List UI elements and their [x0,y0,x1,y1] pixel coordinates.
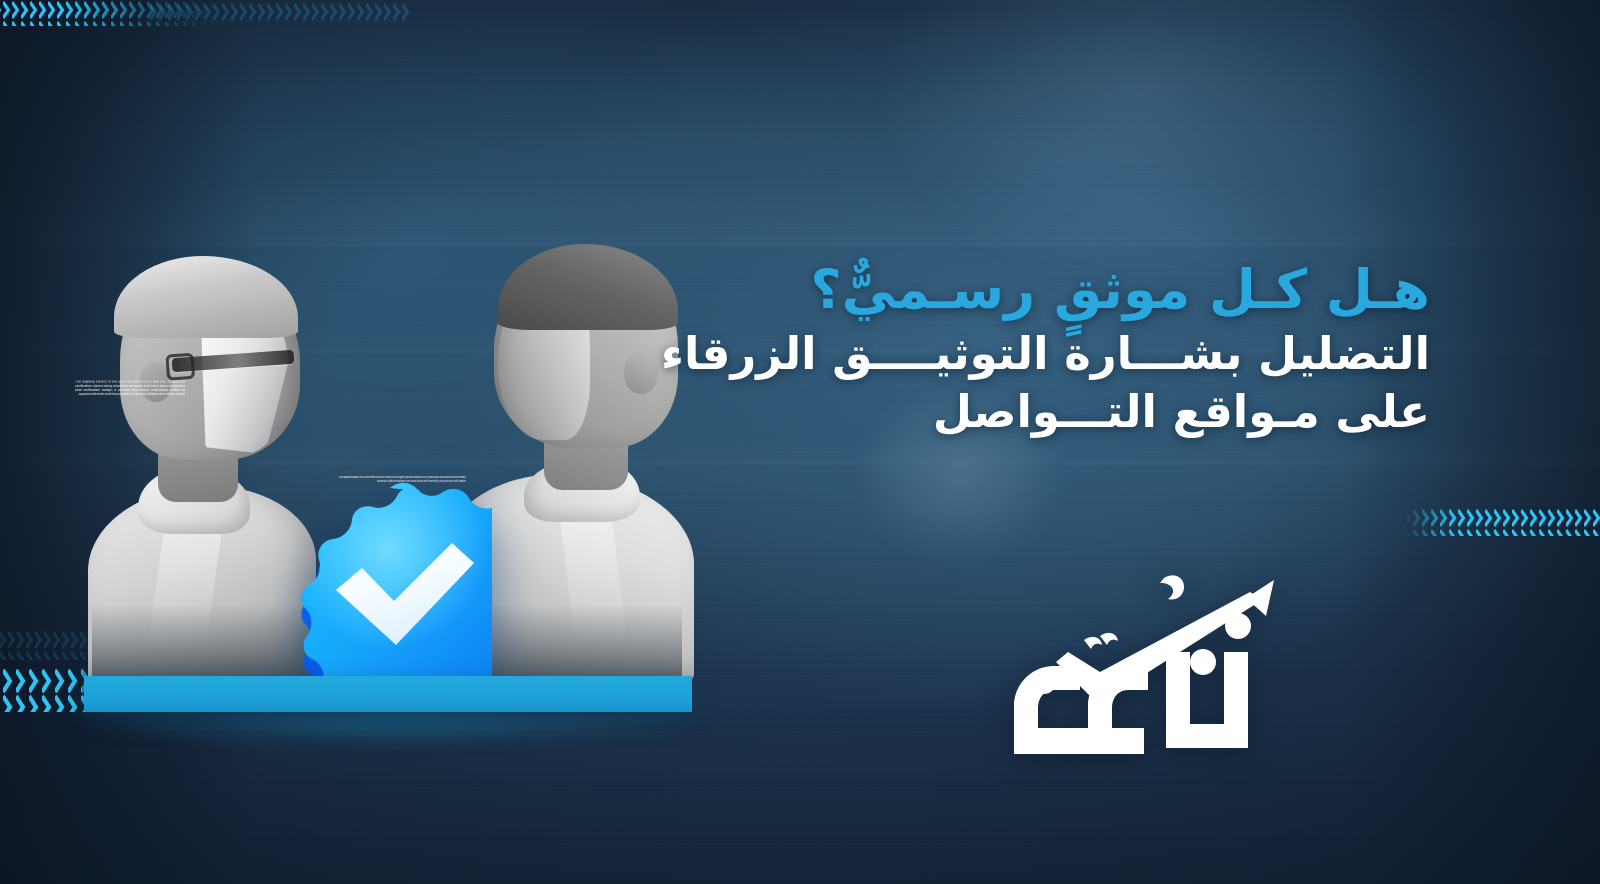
figure-left-hair [114,256,298,338]
brand-logo [988,556,1308,782]
poster-canvas: The ongoing conflict in the area has not… [0,0,1600,884]
cyan-plinth-bar [84,676,692,712]
headline-line-3: على مـواقع التـــواصل [700,389,1430,435]
figure-right-hair [498,244,678,330]
headline-line-2: التضليل بشـــارة التوثيــــق الزرقاء [700,331,1430,377]
figure-right-ear [624,352,658,394]
microtext-overlay-left: The ongoing conflict in the area has not… [75,381,185,418]
chevron-arrows-top-faint [150,2,410,24]
headline-block: هـل كـل موثقٍ رسـميٌّ؟ التضليل بشـــارة … [700,262,1430,435]
blue-verified-badge-icon [288,468,492,680]
headline-line-1-question: هـل كـل موثقٍ رسـميٌّ؟ [700,262,1430,317]
chevron-arrows-right [1404,508,1600,536]
